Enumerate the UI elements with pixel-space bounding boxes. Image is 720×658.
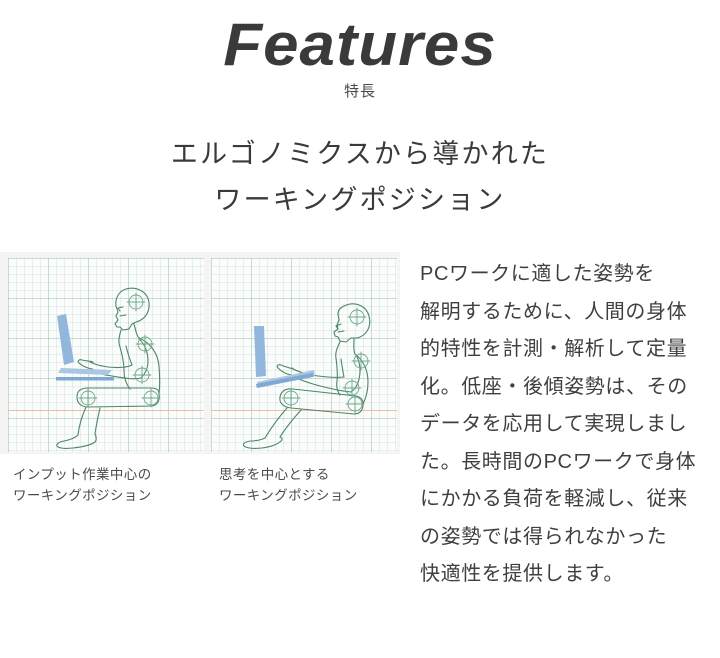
page-title: Features [0,0,720,76]
caption-left-line-1: インプット作業中心の [13,464,152,485]
seated-reclined-person-figure-icon [211,258,397,452]
illustration-area [0,252,400,454]
body-paragraph: PCワークに適した姿勢を 解明するために、人間の身体 的特性を計測・解析して定量… [420,256,710,594]
page-subtitle: 特長 [0,76,720,102]
body-line: データを応用して実現しまし [420,406,710,444]
caption-left: インプット作業中心の ワーキングポジション [13,464,152,506]
body-line: 快適性を提供します。 [420,556,710,594]
illustration-captions: インプット作業中心の ワーキングポジション 思考を中心とする ワーキングポジショ… [0,464,400,510]
illustration-panel-left [8,258,204,452]
illustration-panel-right [211,258,397,452]
caption-left-line-2: ワーキングポジション [13,485,152,506]
body-line: PCワークに適した姿勢を [420,256,710,294]
body-line: の姿勢では得られなかった [420,519,710,557]
body-line: 解明するために、人間の身体 [420,294,710,332]
body-line: 化。低座・後傾姿勢は、その [420,369,710,407]
body-line: にかかる負荷を軽減し、従来 [420,481,710,519]
body-line: た。長時間のPCワークで身体 [420,444,710,482]
caption-right-line-1: 思考を中心とする [219,464,358,485]
body-line: 的特性を計測・解析して定量 [420,331,710,369]
headline-line-1: エルゴノミクスから導かれた [0,131,720,177]
headline-line-2: ワーキングポジション [0,177,720,223]
caption-right-line-2: ワーキングポジション [219,485,358,506]
laptop-device-shape [254,326,315,388]
laptop-device-shape [56,314,114,381]
seated-upright-person-figure-icon [8,258,204,452]
section-headline: エルゴノミクスから導かれた ワーキングポジション [0,131,720,223]
caption-right: 思考を中心とする ワーキングポジション [219,464,358,506]
page-header: Features 特長 [0,0,720,102]
